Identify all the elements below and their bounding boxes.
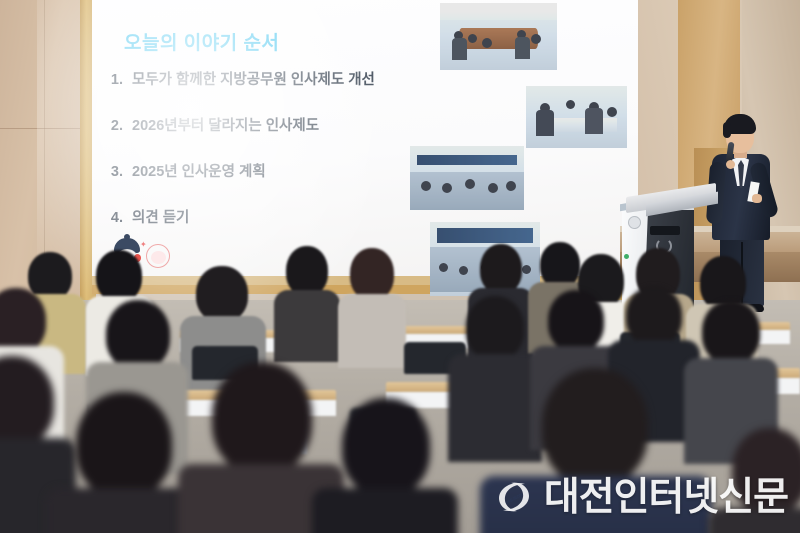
list-item-number: 4. bbox=[108, 210, 123, 226]
list-item: 2. 2026년부터 달라지는 인사제도 bbox=[108, 114, 438, 135]
list-item-label: 2026년부터 달라지는 인사제도 bbox=[132, 114, 319, 135]
meeting-photo-middle bbox=[410, 146, 524, 210]
list-item: 1. 모두가 함께한 지방공무원 인사제도 개선 bbox=[108, 68, 438, 89]
list-item: 4. 의견 듣기 bbox=[108, 206, 438, 227]
list-item-label: 모두가 함께한 지방공무원 인사제도 개선 bbox=[132, 68, 375, 89]
slide-agenda-list: 1. 모두가 함께한 지방공무원 인사제도 개선 2. 2026년부터 달라지는… bbox=[108, 68, 438, 252]
status-led bbox=[624, 254, 629, 259]
list-item-number: 2. bbox=[108, 118, 123, 134]
list-item-label: 2025년 인사운영 계획 bbox=[132, 160, 266, 181]
podium-control-panel bbox=[650, 226, 680, 235]
list-item-number: 3. bbox=[108, 164, 123, 180]
list-item-label: 의견 듣기 bbox=[132, 206, 189, 227]
meeting-photo-right bbox=[526, 86, 627, 148]
slide-title: 오늘의 이야기 순서 bbox=[124, 28, 279, 55]
list-item-number: 1. bbox=[108, 72, 123, 88]
projection-screen: 오늘의 이야기 순서 1. 모두가 함께한 지방공무원 인사제도 개선 2. 2… bbox=[92, 0, 638, 276]
list-item: 3. 2025년 인사운영 계획 bbox=[108, 160, 438, 181]
meeting-photo-top bbox=[440, 3, 557, 70]
photo-scene: 오늘의 이야기 순서 1. 모두가 함께한 지방공무원 인사제도 개선 2. 2… bbox=[0, 0, 800, 533]
